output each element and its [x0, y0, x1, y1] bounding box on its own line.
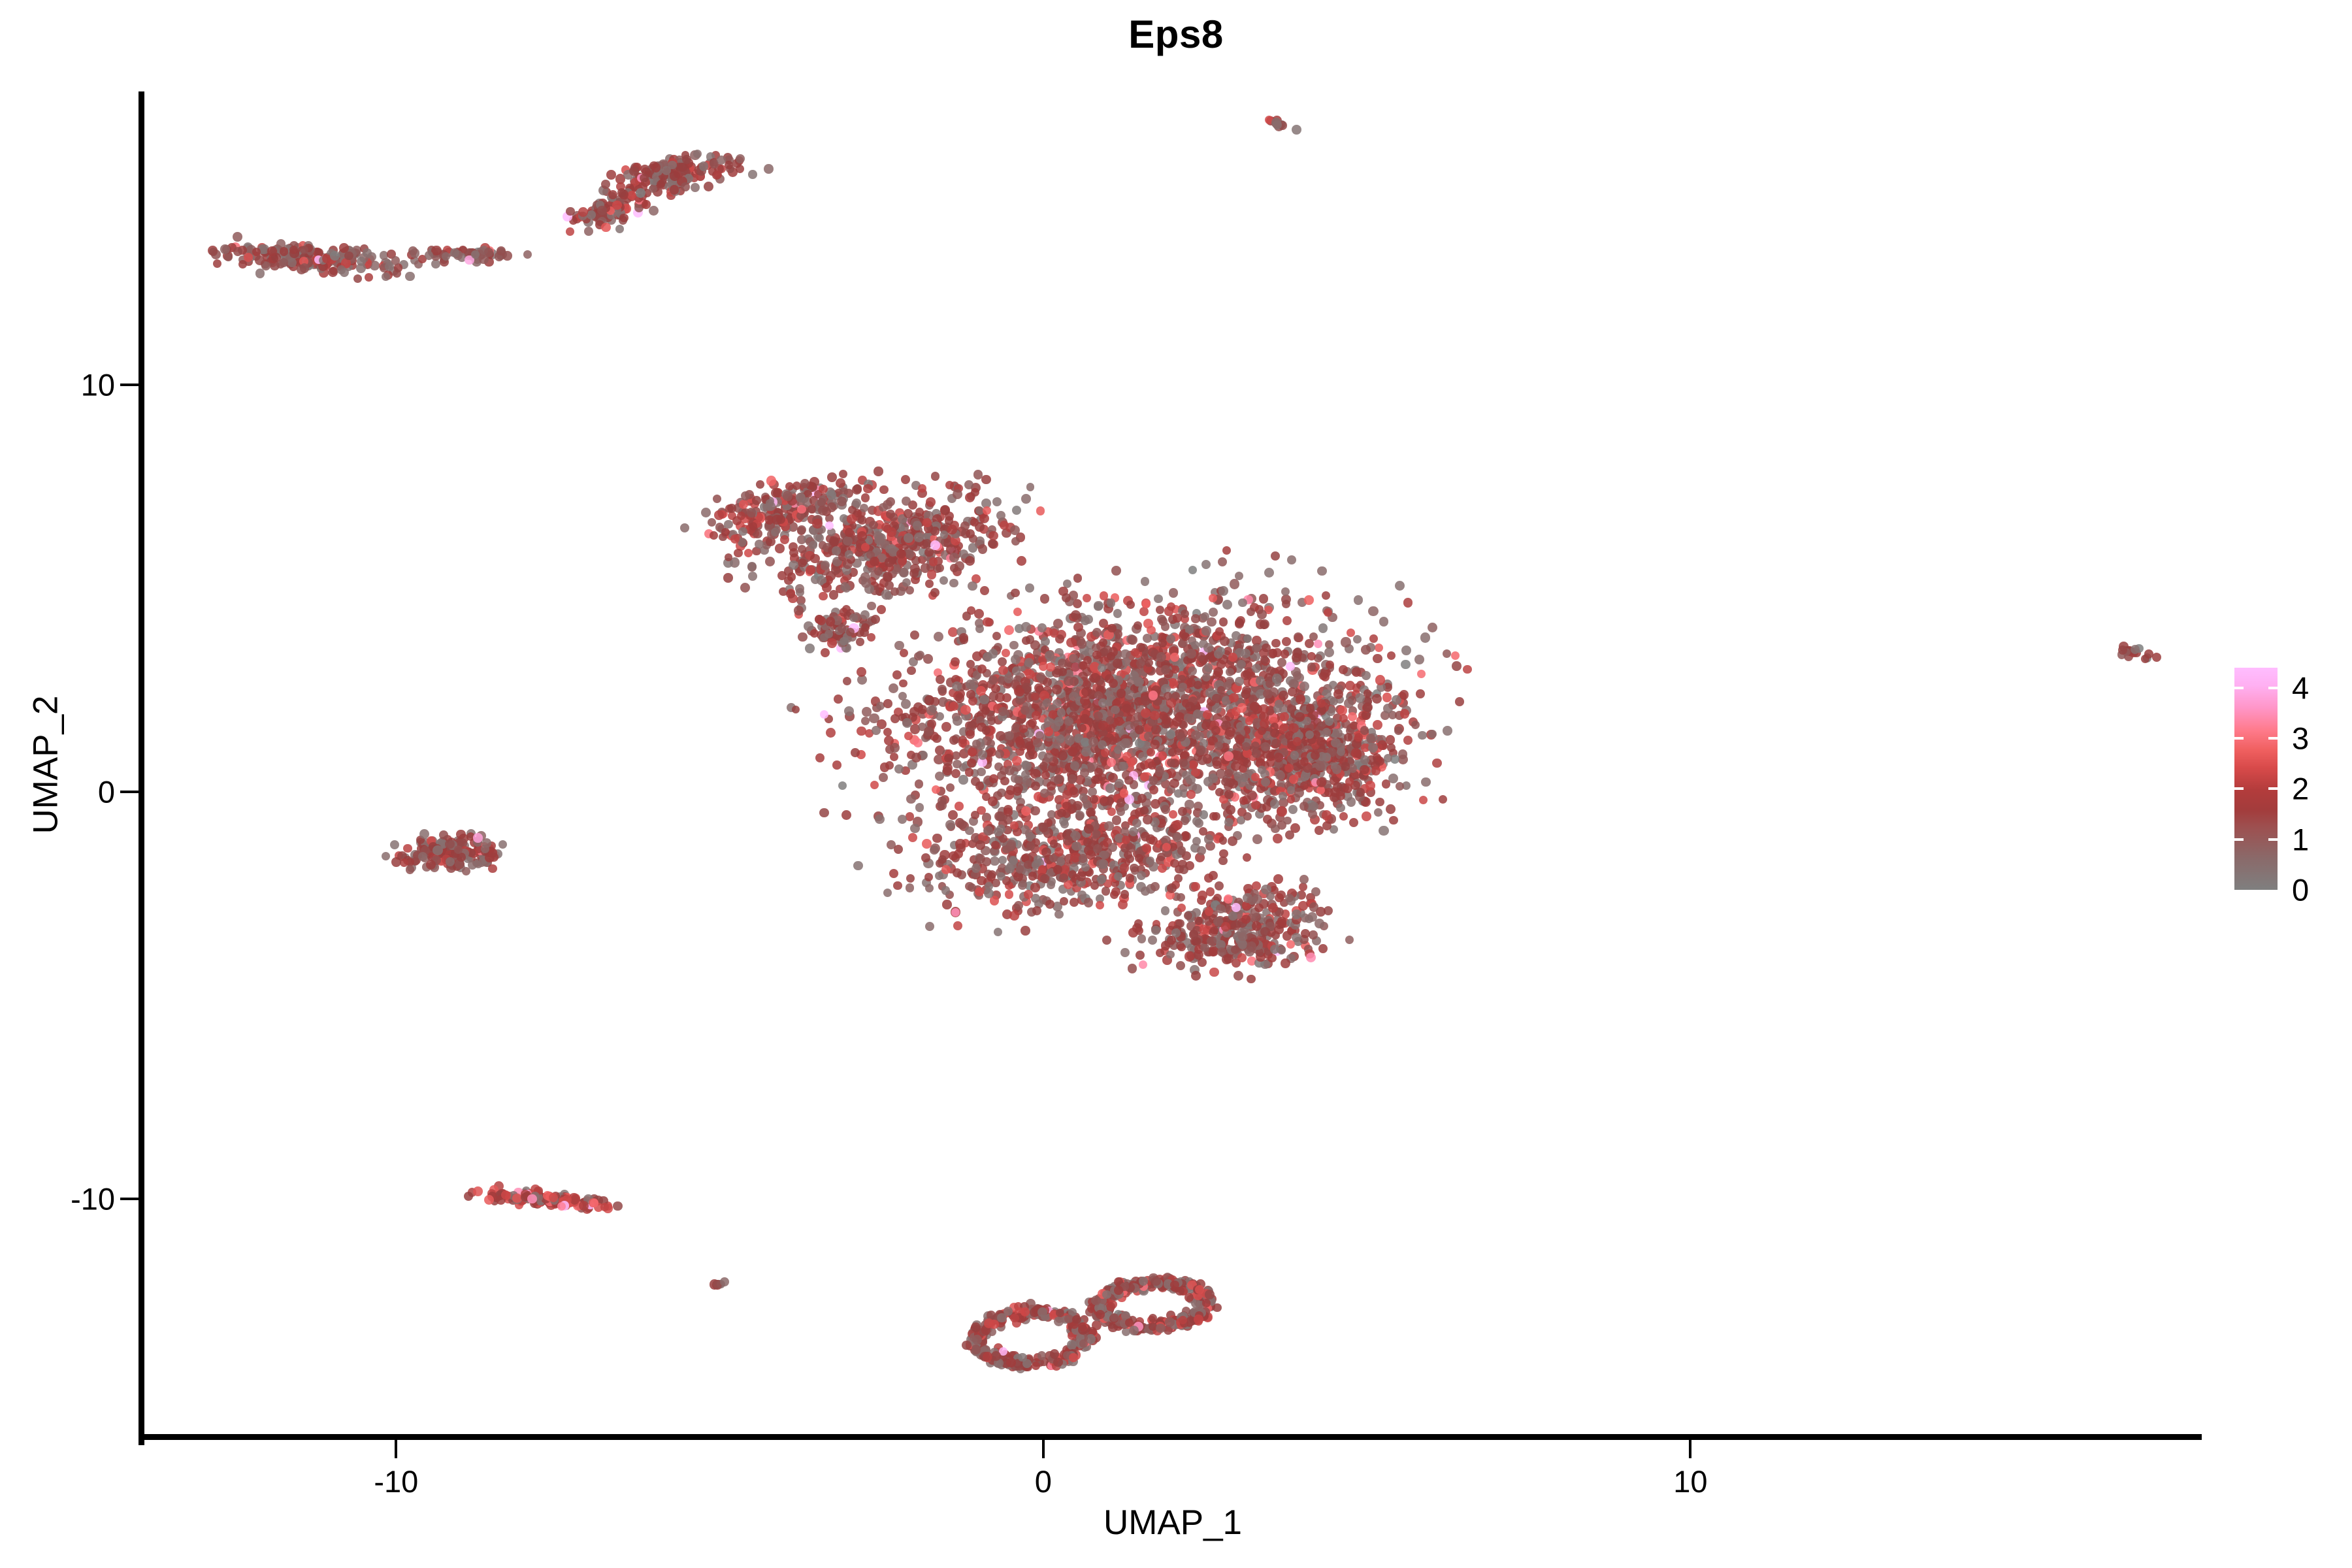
scatter-point — [819, 485, 828, 494]
scatter-point — [983, 617, 992, 627]
scatter-point — [1375, 675, 1385, 685]
scatter-point — [1068, 774, 1077, 784]
scatter-point — [1019, 725, 1028, 733]
scatter-point — [1252, 749, 1260, 758]
scatter-point — [1299, 875, 1309, 884]
scatter-point — [894, 845, 903, 854]
scatter-point — [1181, 632, 1190, 641]
scatter-point — [924, 727, 934, 736]
scatter-point — [798, 632, 807, 642]
scatter-point — [1191, 641, 1200, 649]
scatter-point — [740, 583, 750, 593]
scatter-point — [981, 475, 991, 485]
scatter-point — [1005, 864, 1015, 874]
scatter-point — [1083, 838, 1092, 846]
scatter-point — [1169, 588, 1179, 598]
scatter-point — [936, 712, 944, 721]
scatter-point — [971, 811, 979, 819]
scatter-point — [966, 690, 975, 699]
scatter-point — [1191, 882, 1200, 891]
scatter-point — [1315, 919, 1324, 928]
scatter-point — [870, 781, 879, 789]
scatter-point — [1241, 649, 1250, 658]
scatter-point — [1373, 720, 1382, 730]
scatter-point — [693, 150, 702, 158]
scatter-point — [1287, 795, 1296, 804]
scatter-point — [1282, 931, 1292, 940]
scatter-point — [1226, 668, 1235, 677]
scatter-point — [1044, 727, 1053, 736]
scatter-point — [738, 527, 747, 536]
scatter-point — [1000, 777, 1009, 785]
scatter-point — [1254, 904, 1264, 913]
scatter-point — [1354, 595, 1363, 604]
scatter-point — [1341, 637, 1350, 647]
scatter-point — [1416, 689, 1425, 698]
scatter-point — [566, 227, 574, 236]
scatter-point — [931, 472, 940, 481]
scatter-point — [1079, 793, 1088, 802]
scatter-point — [879, 773, 888, 782]
scatter-point — [1080, 768, 1089, 777]
scatter-point — [971, 488, 979, 497]
scatter-point — [1281, 958, 1290, 968]
scatter-point — [1025, 751, 1034, 760]
scatter-point — [932, 834, 942, 843]
scatter-point — [1021, 494, 1031, 504]
scatter-point — [1289, 775, 1298, 784]
scatter-point — [1194, 681, 1202, 689]
scatter-point — [783, 491, 792, 500]
scatter-point — [856, 638, 864, 646]
scatter-point — [1084, 898, 1094, 907]
scatter-point — [1233, 971, 1243, 981]
scatter-point — [818, 506, 828, 515]
scatter-point — [747, 562, 757, 571]
scatter-point — [885, 581, 894, 590]
scatter-point — [1283, 817, 1292, 825]
scatter-point — [775, 544, 785, 553]
scatter-point — [1377, 740, 1387, 750]
scatter-point — [794, 606, 804, 615]
scatter-point — [1262, 644, 1270, 652]
scatter-point — [710, 531, 718, 540]
scatter-point — [1021, 622, 1031, 632]
scatter-point — [832, 546, 841, 555]
scatter-point — [1386, 804, 1396, 814]
scatter-point — [1143, 634, 1152, 644]
scatter-point — [852, 485, 862, 495]
scatter-point — [929, 557, 938, 566]
scatter-point — [1107, 598, 1115, 607]
scatter-point — [681, 182, 690, 191]
scatter-point — [1224, 730, 1234, 740]
scatter-point — [723, 573, 733, 583]
scatter-point — [1257, 610, 1267, 619]
scatter-point — [713, 171, 722, 179]
scatter-point — [1069, 654, 1078, 663]
scatter-point — [1309, 802, 1318, 811]
scatter-point — [1237, 953, 1247, 962]
scatter-point — [810, 629, 819, 638]
scatter-point — [701, 508, 711, 517]
scatter-point — [1213, 671, 1221, 679]
scatter-point — [1141, 577, 1150, 586]
scatter-point — [617, 188, 626, 197]
scatter-point — [1295, 712, 1305, 722]
scatter-point — [425, 251, 433, 259]
scatter-point — [825, 630, 833, 638]
scatter-point — [892, 670, 902, 679]
scatter-point — [765, 557, 775, 566]
scatter-point — [1318, 623, 1328, 633]
scatter-point — [1401, 660, 1410, 669]
scatter-point — [1270, 728, 1279, 738]
scatter-point — [966, 529, 975, 538]
scatter-point — [344, 252, 353, 261]
scatter-point — [1140, 772, 1149, 781]
scatter-point — [1336, 804, 1345, 813]
scatter-point — [1030, 640, 1040, 650]
scatter-point — [994, 928, 1002, 936]
scatter-point — [911, 753, 921, 762]
scatter-point — [1279, 691, 1288, 700]
scatter-point — [946, 783, 955, 792]
scatter-point — [900, 649, 908, 657]
scatter-point — [927, 570, 937, 580]
scatter-point — [1077, 639, 1087, 649]
scatter-point — [804, 621, 813, 631]
scatter-point — [1304, 595, 1314, 605]
scatter-point — [670, 185, 679, 194]
scatter-point — [890, 753, 898, 761]
scatter-point — [1066, 638, 1076, 647]
scatter-point — [1369, 634, 1378, 643]
scatter-point — [996, 812, 1005, 821]
scatter-point — [1400, 709, 1409, 718]
scatter-point — [279, 258, 287, 267]
scatter-point — [1011, 537, 1021, 546]
scatter-point — [1316, 737, 1326, 746]
scatter-point — [1107, 624, 1116, 632]
scatter-point — [800, 479, 809, 488]
scatter-point — [1137, 934, 1146, 943]
scatter-point — [1228, 911, 1237, 921]
scatter-point — [1242, 742, 1250, 751]
scatter-point — [968, 581, 977, 591]
scatter-point — [1002, 693, 1011, 702]
scatter-point — [826, 617, 835, 626]
scatter-point — [1105, 783, 1115, 793]
scatter-point — [877, 605, 886, 614]
scatter-point — [1154, 595, 1163, 604]
scatter-point — [1296, 694, 1305, 704]
scatter-point — [1142, 600, 1151, 608]
scatter-point — [1217, 660, 1226, 669]
scatter-point — [1015, 736, 1024, 745]
scatter-point — [340, 268, 349, 277]
scatter-point — [1173, 613, 1182, 623]
scatter-point — [940, 531, 949, 539]
scatter-point — [1120, 948, 1130, 957]
scatter-point — [744, 549, 753, 557]
scatter-point — [913, 521, 923, 531]
scatter-point — [1191, 730, 1200, 740]
scatter-point — [764, 164, 774, 174]
scatter-point — [1111, 566, 1121, 576]
scatter-point — [1150, 711, 1159, 720]
scatter-point — [1218, 557, 1227, 566]
scatter-point — [1130, 864, 1138, 872]
scatter-point — [1092, 628, 1102, 637]
scatter-point — [1022, 761, 1032, 771]
scatter-point — [1208, 774, 1218, 783]
scatter-point — [1017, 556, 1026, 566]
scatter-point — [1090, 673, 1100, 683]
scatter-point — [994, 828, 1002, 836]
scatter-point — [883, 728, 892, 736]
scatter-point — [1058, 751, 1068, 760]
scatter-point — [998, 657, 1007, 666]
scatter-point — [978, 750, 987, 759]
scatter-point — [1107, 652, 1115, 661]
scatter-point — [840, 637, 848, 645]
scatter-point — [1421, 777, 1430, 787]
scatter-point — [1033, 738, 1041, 747]
scatter-point — [958, 739, 967, 747]
scatter-point — [955, 802, 963, 810]
scatter-point — [1073, 623, 1083, 632]
scatter-point — [1443, 726, 1452, 736]
scatter-point — [815, 753, 825, 762]
scatter-point — [1083, 656, 1092, 664]
scatter-point — [1277, 658, 1287, 668]
scatter-point — [1221, 922, 1231, 932]
scatter-point — [1273, 874, 1283, 884]
scatter-point — [1241, 690, 1250, 699]
scatter-point — [289, 246, 298, 254]
scatter-point — [1356, 788, 1365, 797]
scatter-point — [1045, 651, 1054, 661]
scatter-point — [1363, 702, 1373, 712]
scatter-point — [1277, 806, 1286, 816]
scatter-point — [827, 638, 837, 648]
scatter-point — [220, 244, 230, 254]
scatter-point — [965, 556, 975, 566]
scatter-point — [287, 258, 297, 267]
scatter-point — [1366, 734, 1375, 743]
scatter-point — [1272, 674, 1282, 683]
scatter-point — [1455, 697, 1464, 706]
scatter-point — [1333, 689, 1343, 699]
scatter-point — [925, 580, 934, 588]
scatter-point — [875, 815, 884, 824]
scatter-point — [1259, 594, 1268, 603]
scatter-point — [990, 857, 1000, 866]
scatter-point — [1306, 704, 1315, 712]
scatter-point — [1292, 648, 1302, 658]
scatter-point — [1218, 857, 1227, 865]
scatter-point — [988, 676, 998, 685]
scatter-point — [1344, 733, 1352, 742]
scatter-point — [812, 519, 822, 529]
scatter-point — [1094, 711, 1103, 721]
scatter-point — [945, 820, 955, 830]
scatter-point — [1098, 664, 1106, 672]
scatter-point — [1141, 887, 1149, 895]
scatter-point — [1184, 951, 1194, 961]
scatter-point — [734, 549, 742, 557]
scatter-point — [958, 775, 968, 784]
scatter-point — [1080, 714, 1090, 724]
scatter-point — [1317, 699, 1326, 708]
scatter-point — [1282, 600, 1290, 608]
scatter-point — [1158, 639, 1167, 647]
scatter-point — [819, 592, 828, 601]
scatter-point — [1041, 771, 1050, 779]
scatter-point — [1081, 687, 1090, 696]
scatter-point — [1298, 901, 1308, 911]
scatter-point — [1189, 930, 1198, 939]
scatter-point — [1164, 606, 1173, 615]
scatter-point — [1403, 598, 1413, 608]
scatter-point — [1012, 756, 1022, 766]
scatter-point — [926, 706, 936, 715]
scatter-point — [881, 589, 891, 599]
scatter-point — [1418, 731, 1426, 740]
scatter-point — [442, 252, 450, 261]
scatter-point — [1379, 826, 1388, 836]
scatter-point — [1224, 751, 1233, 761]
scatter-point — [238, 260, 247, 269]
scatter-point — [797, 505, 806, 514]
scatter-point — [1314, 640, 1322, 648]
scatter-point — [297, 265, 306, 274]
scatter-point — [1201, 721, 1210, 730]
scatter-point — [1224, 790, 1233, 799]
scatter-point — [1224, 894, 1233, 904]
scatter-point — [1324, 608, 1332, 617]
scatter-point — [1021, 770, 1030, 779]
scatter-point — [953, 489, 962, 499]
scatter-point — [1132, 819, 1141, 828]
scatter-point — [1184, 713, 1192, 722]
scatter-point — [1011, 589, 1020, 598]
scatter-point — [1247, 791, 1257, 800]
scatter-point — [1040, 594, 1050, 604]
scatter-point — [1128, 964, 1137, 973]
scatter-point — [1222, 546, 1231, 555]
scatter-point — [1025, 742, 1034, 750]
scatter-point — [941, 722, 951, 732]
scatter-point — [1428, 623, 1437, 632]
scatter-point — [1451, 651, 1460, 660]
scatter-point — [1368, 743, 1378, 753]
scatter-point — [1134, 677, 1143, 686]
scatter-point — [1209, 812, 1218, 821]
scatter-point — [1128, 635, 1137, 645]
scatter-point — [967, 759, 976, 768]
scatter-point — [353, 274, 362, 283]
scatter-point — [861, 623, 870, 632]
scatter-point — [1399, 690, 1409, 699]
scatter-point — [1282, 616, 1292, 625]
scatter-point — [1144, 732, 1153, 741]
scatter-point — [1237, 660, 1246, 669]
scatter-point — [976, 686, 985, 695]
scatter-point — [1281, 587, 1290, 596]
scatter-point — [1005, 766, 1015, 776]
scatter-point — [1204, 874, 1213, 883]
scatter-point — [233, 247, 242, 256]
scatter-point — [1073, 574, 1082, 582]
scatter-point — [1228, 836, 1237, 846]
scatter-point — [883, 699, 892, 708]
scatter-point — [1271, 118, 1281, 127]
scatter-point — [975, 625, 984, 633]
scatter-point — [1156, 606, 1164, 614]
scatter-point — [1137, 871, 1146, 880]
scatter-point — [1140, 806, 1149, 815]
scatter-point — [1109, 679, 1118, 688]
scatter-point — [1194, 950, 1203, 960]
scatter-point — [1345, 936, 1354, 944]
scatter-point — [1267, 954, 1277, 963]
scatter-point — [1382, 779, 1391, 789]
scatter-point — [1395, 581, 1405, 591]
scatter-point — [1339, 812, 1348, 821]
scatter-point — [872, 726, 881, 735]
scatter-point — [906, 586, 914, 595]
scatter-point — [1383, 704, 1393, 713]
scatter-point — [651, 163, 661, 172]
umap-feature-plot: Eps8 -10010-10010 UMAP_1 UMAP_2 01234 — [0, 0, 2352, 1568]
scatter-point — [965, 768, 974, 777]
scatter-point — [1243, 634, 1252, 644]
scatter-point — [1219, 617, 1228, 626]
scatter-point — [797, 525, 806, 534]
scatter-point — [968, 543, 978, 553]
scatter-point — [606, 170, 616, 180]
scatter-point — [1101, 748, 1110, 757]
scatter-point — [756, 480, 764, 489]
scatter-point — [1235, 572, 1243, 580]
scatter-point — [737, 512, 745, 520]
scatter-point — [934, 632, 943, 642]
scatter-point — [1247, 608, 1255, 616]
scatter-point — [879, 503, 887, 512]
scatter-point — [1147, 626, 1155, 634]
scatter-point — [1111, 887, 1121, 897]
scatter-point — [789, 548, 798, 557]
scatter-point — [930, 845, 939, 855]
scatter-point — [1417, 670, 1426, 678]
scatter-point — [830, 538, 839, 547]
scatter-point — [1149, 785, 1158, 794]
scatter-point — [747, 508, 757, 517]
scatter-point — [1263, 689, 1272, 698]
scatter-point — [1201, 626, 1211, 636]
scatter-point — [1247, 941, 1256, 951]
scatter-point — [925, 922, 934, 931]
scatter-point — [913, 738, 923, 747]
scatter-point — [1119, 762, 1128, 771]
scatter-point — [1073, 599, 1082, 608]
scatter-point — [612, 201, 622, 210]
scatter-point — [721, 528, 730, 536]
scatter-point — [885, 557, 894, 567]
scatter-point — [408, 246, 417, 255]
